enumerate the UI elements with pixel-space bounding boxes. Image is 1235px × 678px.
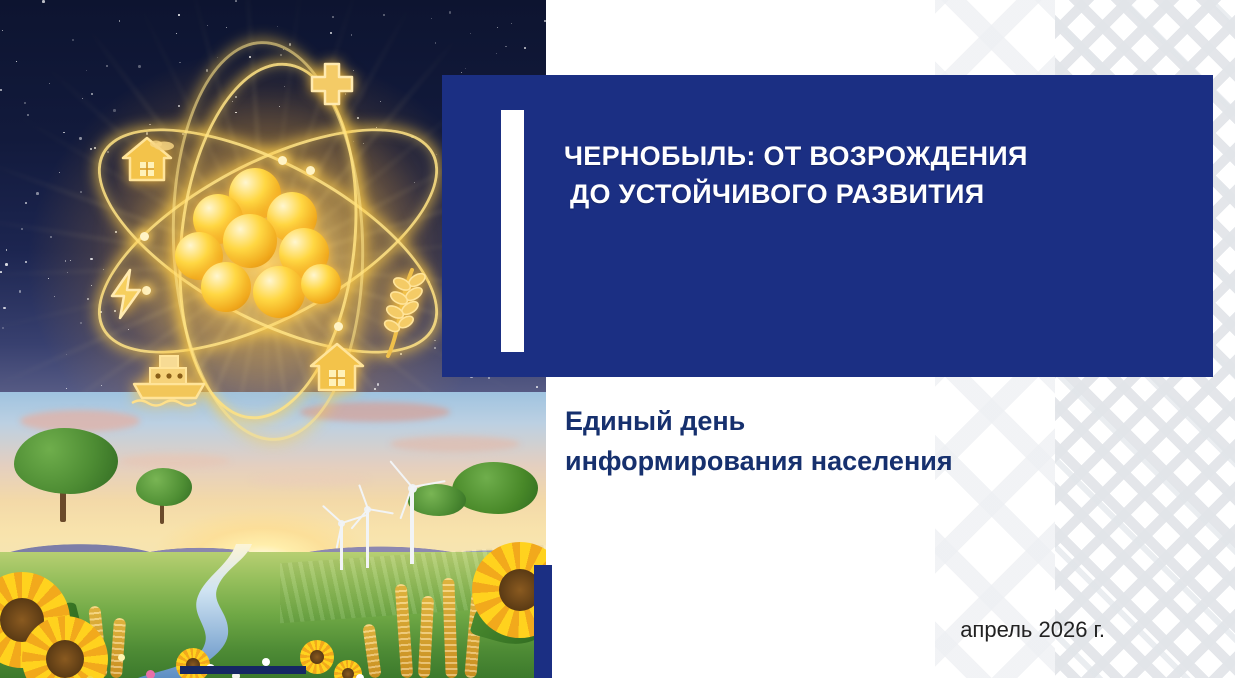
title-banner: ЧЕРНОБЫЛЬ: ОТ ВОЗРОЖДЕНИЯ ДО УСТОЙЧИВОГО… <box>442 75 1213 377</box>
atom-nucleus <box>175 166 355 326</box>
title-line-2: ДО УСТОЙЧИВОГО РАЗВИТИЯ <box>564 175 1184 213</box>
blue-accent-strip-horizontal <box>180 666 306 674</box>
sunflower <box>22 616 108 678</box>
electron <box>278 156 287 165</box>
subtitle-line-1: Единый день <box>565 402 1125 442</box>
subtitle-line-2: информирования населения <box>565 442 1125 482</box>
wind-turbine <box>362 496 373 570</box>
title-line-1: ЧЕРНОБЫЛЬ: ОТ ВОЗРОЖДЕНИЯ <box>564 137 1184 175</box>
electron <box>306 166 315 175</box>
medical-cross-icon <box>304 60 360 116</box>
presentation-slide: ЧЕРНОБЫЛЬ: ОТ ВОЗРОЖДЕНИЯ ДО УСТОЙЧИВОГО… <box>0 0 1235 678</box>
white-accent-bar <box>501 110 524 352</box>
event-date: апрель 2026 г. <box>700 617 1105 643</box>
house-icon-2 <box>306 338 368 396</box>
wind-turbine <box>336 510 347 572</box>
atom-symbol <box>42 38 488 438</box>
subtitle: Единый день информирования населения <box>565 402 1125 482</box>
wheat-icon <box>372 266 428 358</box>
electron <box>140 232 149 241</box>
ship-icon <box>126 346 212 408</box>
lightning-bolt-icon <box>100 266 152 322</box>
electron <box>334 322 343 331</box>
wind-turbine <box>406 474 419 570</box>
page-title: ЧЕРНОБЫЛЬ: ОТ ВОЗРОЖДЕНИЯ ДО УСТОЙЧИВОГО… <box>564 137 1184 214</box>
house-icon <box>118 132 176 186</box>
blue-accent-strip-vertical <box>534 565 552 678</box>
